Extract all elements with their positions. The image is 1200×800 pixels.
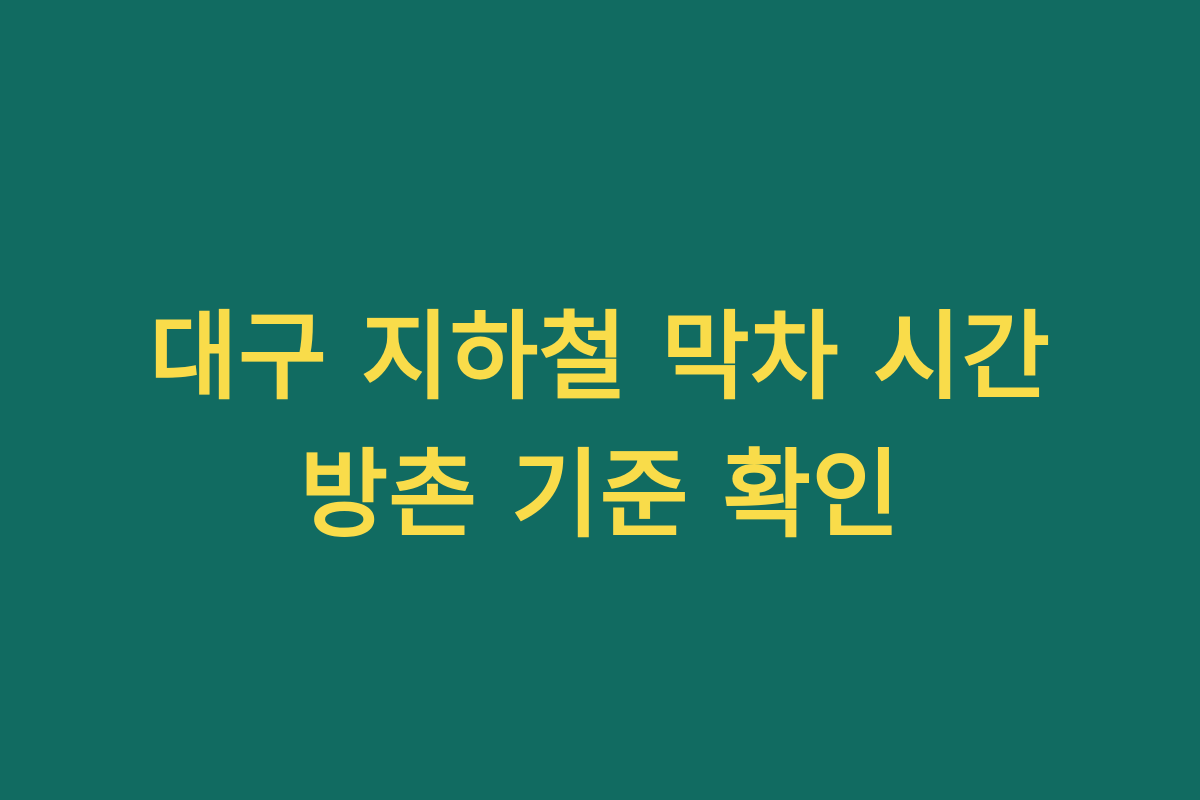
headline-line-primary: 대구 지하철 막차 시간 — [0, 288, 1200, 426]
thumbnail-canvas: 대구 지하철 막차 시간 방촌 기준 확인 — [0, 0, 1200, 800]
headline-block: 대구 지하철 막차 시간 방촌 기준 확인 — [0, 288, 1200, 564]
headline-line-secondary: 방촌 기준 확인 — [0, 426, 1200, 564]
